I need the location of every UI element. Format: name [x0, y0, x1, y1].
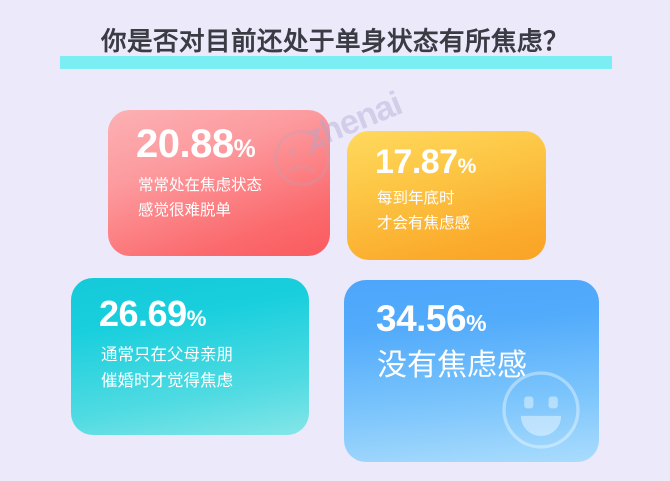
- stat-card-label-line-2: 才会有焦虑感: [377, 211, 470, 236]
- stat-percent-value: 26.69%: [99, 296, 206, 332]
- percent-number: 26.69: [99, 293, 187, 334]
- percent-symbol: %: [458, 155, 477, 178]
- stat-card-label: 通常只在父母亲朋 催婚时才觉得焦虑: [101, 342, 233, 394]
- stat-card-label-line-2: 催婚时才觉得焦虑: [101, 368, 233, 394]
- stat-card-year-end: 17.87% 每到年底时 才会有焦虑感: [347, 131, 546, 260]
- page-title: 你是否对目前还处于单身状态有所焦虑？: [0, 22, 670, 62]
- percent-symbol: %: [466, 310, 486, 336]
- stat-percent-value: 20.88%: [136, 124, 256, 164]
- stat-percent-value: 34.56%: [376, 300, 487, 337]
- percent-number: 34.56: [376, 298, 466, 339]
- stat-card-label-line-1: 每到年底时: [377, 186, 470, 211]
- stat-card-label: 每到年底时 才会有焦虑感: [377, 186, 470, 236]
- stat-card-label: 没有焦虑感: [377, 346, 527, 386]
- stat-card-label-line-1: 通常只在父母亲朋: [101, 342, 233, 368]
- stat-percent-value: 17.87%: [375, 145, 476, 179]
- percent-number: 17.87: [375, 143, 458, 181]
- stat-card-anxious-often: 20.88% 常常处在焦虑状态 感觉很难脱单: [108, 110, 330, 256]
- stat-card-label-line-2: 感觉很难脱单: [138, 198, 262, 223]
- stat-card-parents-push: 26.69% 通常只在父母亲朋 催婚时才觉得焦虑: [71, 278, 309, 435]
- page-title-container: 你是否对目前还处于单身状态有所焦虑？: [0, 22, 670, 70]
- stat-card-label-line-1: 没有焦虑感: [377, 346, 527, 386]
- percent-symbol: %: [187, 306, 207, 331]
- percent-number: 20.88: [136, 122, 234, 166]
- stat-card-label-line-1: 常常处在焦虑状态: [138, 173, 262, 198]
- percent-symbol: %: [234, 136, 256, 163]
- stat-card-no-anxiety: 34.56% 没有焦虑感: [344, 280, 599, 462]
- stat-card-label: 常常处在焦虑状态 感觉很难脱单: [138, 173, 262, 223]
